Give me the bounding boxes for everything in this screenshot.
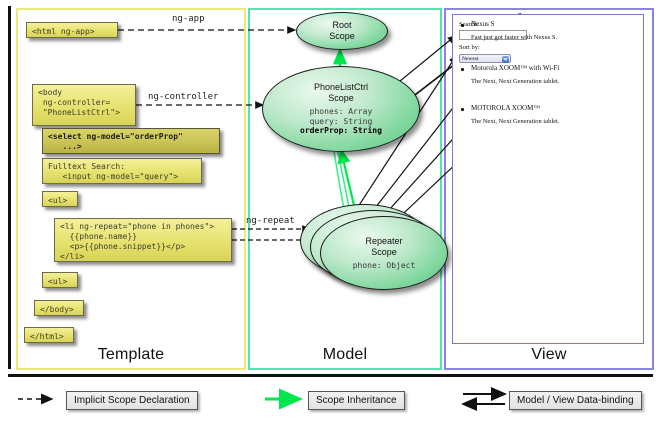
- phone-name: Nexus S: [471, 20, 641, 28]
- code-box-body-open: <body ng-controller= "PhoneListCtrl">: [32, 84, 136, 126]
- code-box-html-open: <html ng-app>: [26, 22, 118, 38]
- phone-name: MOTOROLA XOOM™: [471, 104, 641, 112]
- list-item[interactable]: Nexus S Fast just got faster with Nexus …: [471, 20, 641, 41]
- phone-snippet: Fast just got faster with Nexus S.: [471, 34, 641, 41]
- code-box-html-close: </html>: [24, 327, 74, 343]
- legend-label-scope-inheritance: Scope Inheritance: [308, 391, 405, 410]
- prop-query: query: String: [310, 117, 373, 126]
- phone-name: Motorola XOOM™ with Wi-Fi: [471, 64, 641, 72]
- diagram-canvas: Template Model View: [0, 0, 661, 425]
- code-box-select-tag: <select ng-model="orderProp" ...>: [42, 128, 220, 154]
- list-item[interactable]: Motorola XOOM™ with Wi-Fi The Next, Next…: [471, 64, 641, 85]
- code-box-ul-open: <ul>: [42, 191, 78, 207]
- chevron-down-icon: [502, 56, 509, 63]
- scope-repeater-title: RepeaterScope: [365, 236, 402, 258]
- view-sort-label: Sort by:: [459, 44, 480, 51]
- label-ng-controller: ng-controller: [148, 92, 218, 102]
- scope-phonelistctrl-props: phones: Arrayquery: StringorderProp: Str…: [300, 107, 382, 136]
- list-item[interactable]: MOTOROLA XOOM™ The Next, Next Generation…: [471, 104, 641, 125]
- legend-label-implicit-scope-declaration: Implicit Scope Declaration: [66, 391, 198, 410]
- scope-root-title: RootScope: [329, 20, 355, 42]
- code-box-li-ng-repeat: <li ng-repeat="phone in phones"> {{phone…: [54, 218, 232, 262]
- list-bullet: [461, 108, 464, 111]
- code-box-body-close: </body>: [34, 300, 84, 316]
- list-bullet: [461, 24, 464, 27]
- scope-repeater-props: phone: Object: [353, 261, 416, 271]
- view-sort-select[interactable]: Newest: [459, 54, 511, 63]
- legend: Implicit Scope Declaration Scope Inherit…: [0, 382, 661, 422]
- scope-root: RootScope: [296, 12, 388, 50]
- list-bullet: [461, 68, 464, 71]
- code-box-fulltext-search: Fulltext Search: <input ng-model="query"…: [42, 158, 202, 184]
- scope-phonelistctrl-title: PhoneListCtrlScope: [314, 82, 368, 104]
- label-ng-repeat: ng-repeat: [246, 216, 295, 226]
- phone-snippet: The Next, Next Generation tablet.: [471, 118, 641, 125]
- scope-phonelistctrl: PhoneListCtrlScope phones: Arrayquery: S…: [262, 66, 420, 152]
- phone-snippet: The Next, Next Generation tablet.: [471, 78, 641, 85]
- prop-orderprop: orderProp: String: [300, 126, 382, 135]
- label-ng-app: ng-app: [172, 14, 205, 24]
- scope-repeater: RepeaterScope phone: Object: [320, 216, 448, 290]
- legend-label-model-view-data-binding: Model / View Data-binding: [509, 391, 642, 410]
- code-box-ul-close: <ul>: [42, 272, 78, 288]
- view-sort-selected-value: Newest: [462, 56, 479, 62]
- prop-phones: phones: Array: [310, 107, 373, 116]
- view-browser-mock: Search: Sort by: Newest Nexus S Fast jus…: [452, 14, 644, 344]
